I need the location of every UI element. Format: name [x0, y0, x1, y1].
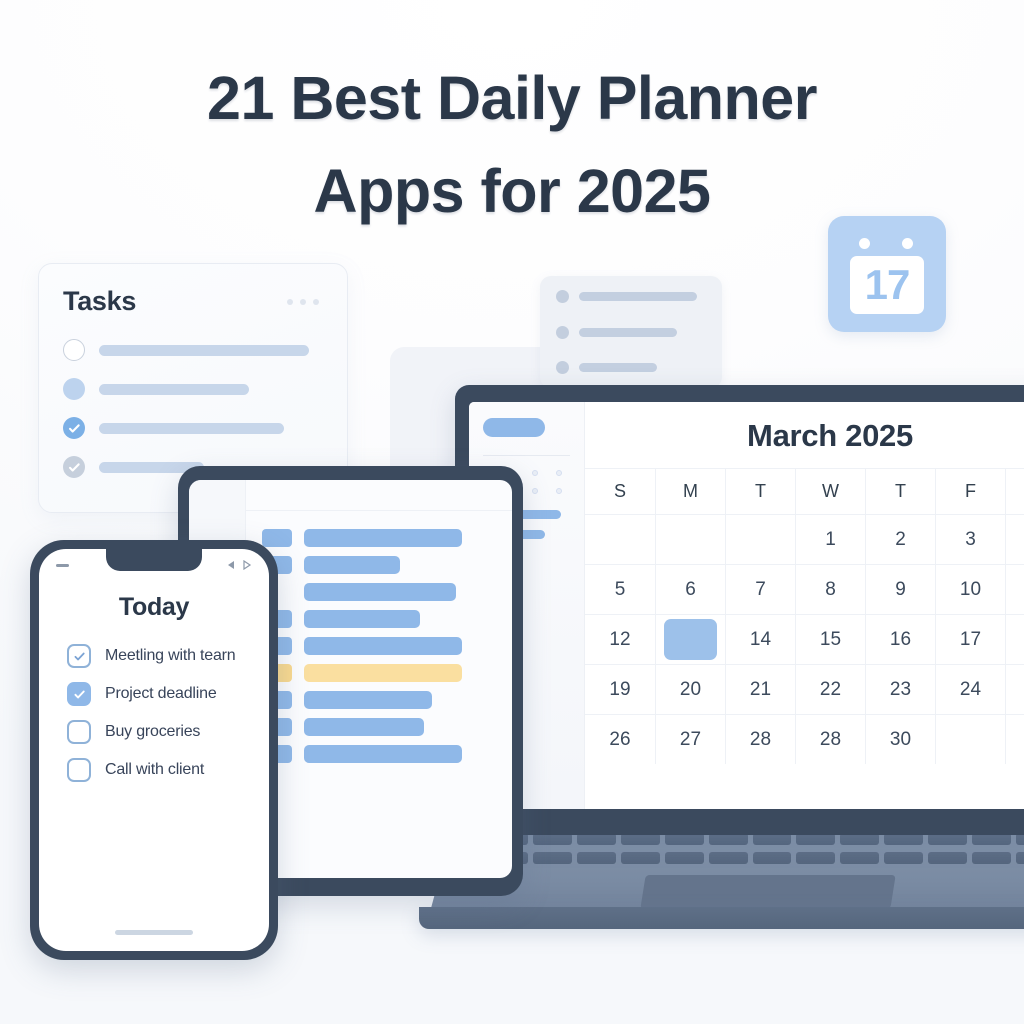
calendar-day-cell[interactable]	[1005, 715, 1024, 764]
phone-task-label: Call with client	[105, 761, 204, 779]
key	[928, 852, 967, 864]
page-title: 21 Best Daily Planner Apps for 2025	[0, 52, 1024, 237]
bullet-placeholder-bar	[579, 363, 657, 372]
calendar-day-cell[interactable]: 18	[1005, 615, 1024, 664]
phone-task-list: Meetling with tearn Project deadline Buy…	[39, 644, 269, 782]
task-row[interactable]	[63, 339, 323, 361]
calendar-day-cell[interactable]: 3	[935, 515, 1005, 564]
calendar-day-cell[interactable]: 7	[725, 565, 795, 614]
grid-dot	[532, 488, 538, 494]
laptop-trackpad[interactable]	[640, 875, 895, 909]
calendar-day-cell[interactable]	[725, 515, 795, 564]
dot	[287, 299, 293, 305]
calendar-day-cell[interactable]: 16	[865, 615, 935, 664]
key	[665, 852, 704, 864]
key	[533, 852, 572, 864]
key	[884, 852, 923, 864]
calendar-day-cell[interactable]: 17	[935, 615, 1005, 664]
calendar-day-cell-selected[interactable]	[655, 615, 725, 664]
weekday-header: F	[935, 469, 1005, 514]
calendar-day-cell[interactable]: 4	[1005, 515, 1024, 564]
calendar-day-cell[interactable]: 11	[1005, 565, 1024, 614]
weekday-header: W	[795, 469, 865, 514]
calendar-day-cell[interactable]: 9	[865, 565, 935, 614]
illustration-canvas: 21 Best Daily Planner Apps for 2025 17 T…	[0, 0, 1024, 1024]
phone-screen-title: Today	[39, 593, 269, 622]
calendar-day-cell[interactable]	[655, 515, 725, 564]
laptop-front-edge	[419, 907, 1024, 929]
calendar-day-cell[interactable]	[935, 715, 1005, 764]
calendar-panel: March 2025 S M T W T F S	[585, 402, 1024, 809]
tablet-list-row[interactable]	[262, 637, 492, 655]
bullet-row	[556, 326, 706, 339]
signal-dash-icon	[56, 564, 69, 567]
calendar-day-cell[interactable]: 21	[725, 665, 795, 714]
task-placeholder-bar	[99, 384, 249, 395]
calendar-day-cell[interactable]: 2	[865, 515, 935, 564]
laptop-screen: March 2025 S M T W T F S	[469, 402, 1024, 809]
tablet-list-row[interactable]	[262, 529, 492, 547]
laptop-keyboard[interactable]	[489, 833, 1024, 871]
phone-task-label: Project deadline	[105, 685, 217, 703]
row-placeholder-bar	[304, 556, 400, 574]
tablet-list-row[interactable]	[262, 610, 492, 628]
calendar-day-cell[interactable]: 15	[795, 615, 865, 664]
calendar-day-cell[interactable]: 28	[725, 715, 795, 764]
bullet-placeholder-bar	[579, 328, 677, 337]
phone-task-row[interactable]: Buy groceries	[67, 720, 269, 744]
phone-task-label: Buy groceries	[105, 723, 200, 741]
task-placeholder-bar	[99, 423, 284, 434]
dot	[300, 299, 306, 305]
row-placeholder-bar	[304, 691, 432, 709]
calendar-day-cell[interactable]: 22	[795, 665, 865, 714]
row-placeholder-bar	[304, 745, 462, 763]
calendar-day-cell[interactable]: 1	[795, 515, 865, 564]
key	[753, 852, 792, 864]
background-bullet-card	[540, 276, 722, 388]
laptop-lid: March 2025 S M T W T F S	[455, 385, 1024, 835]
checkbox-empty-icon[interactable]	[67, 758, 91, 782]
calendar-week-row: 12 14 15 16 17 18	[585, 614, 1024, 664]
row-placeholder-bar	[304, 583, 456, 601]
phone-home-indicator[interactable]	[115, 930, 193, 935]
checkbox-filled-checked-icon[interactable]	[67, 682, 91, 706]
tablet-list-row-highlighted[interactable]	[262, 664, 492, 682]
phone-screen: Today Meetling with tearn Project deadli…	[39, 549, 269, 951]
phone-task-row[interactable]: Project deadline	[67, 682, 269, 706]
more-options-dots-icon[interactable]	[287, 299, 323, 305]
tablet-list-row[interactable]	[262, 691, 492, 709]
calendar-day-cell[interactable]	[585, 515, 655, 564]
phone-task-row[interactable]: Call with client	[67, 758, 269, 782]
weekday-header: M	[655, 469, 725, 514]
calendar-grid: S M T W T F S 1	[585, 468, 1024, 809]
row-placeholder-bar	[304, 718, 424, 736]
calendar-month-title: March 2025	[585, 402, 1024, 468]
checkbox-empty-icon[interactable]	[63, 339, 85, 361]
calendar-day-cell[interactable]: 19	[585, 665, 655, 714]
row-placeholder-bar	[304, 529, 462, 547]
calendar-day-cell[interactable]: 10	[935, 565, 1005, 614]
selected-day-highlight	[664, 619, 717, 660]
key	[840, 852, 879, 864]
phone-status-bar	[39, 558, 269, 572]
key	[796, 852, 835, 864]
calendar-day-cell[interactable]: 30	[865, 715, 935, 764]
task-placeholder-bar	[99, 345, 309, 356]
sidebar-nav-pill[interactable]	[483, 418, 545, 437]
phone-task-label: Meetling with tearn	[105, 647, 236, 665]
calendar-day-cell[interactable]: 24	[935, 665, 1005, 714]
calendar-ring-dot-left	[859, 238, 870, 249]
tablet-list-row[interactable]	[262, 718, 492, 736]
calendar-weekday-header-row: S M T W T F S	[585, 468, 1024, 514]
checkbox-checked-muted-icon[interactable]	[63, 456, 85, 478]
row-chip	[262, 529, 292, 547]
row-placeholder-bar	[304, 610, 420, 628]
calendar-ring-dot-right	[902, 238, 913, 249]
phone-device: Today Meetling with tearn Project deadli…	[30, 540, 278, 960]
calendar-week-row: 19 20 21 22 23 24 25	[585, 664, 1024, 714]
weekday-header: T	[865, 469, 935, 514]
calendar-badge-day: 17	[865, 264, 910, 306]
tasks-card-header: Tasks	[63, 286, 323, 317]
row-placeholder-bar	[304, 637, 462, 655]
tablet-row-list	[246, 511, 512, 763]
tasks-card-title: Tasks	[63, 286, 136, 317]
calendar-day-cell[interactable]: 5	[585, 565, 655, 614]
weekday-header: S	[1005, 469, 1024, 514]
tablet-list-row[interactable]	[262, 556, 492, 574]
calendar-day-cell[interactable]: 28	[795, 715, 865, 764]
calendar-week-row: 5 6 7 8 9 10 11	[585, 564, 1024, 614]
checkbox-empty-icon[interactable]	[67, 720, 91, 744]
calendar-day-cell[interactable]: 6	[655, 565, 725, 614]
tablet-list-row[interactable]	[262, 745, 492, 763]
bullet-dot-icon	[556, 290, 569, 303]
key	[1016, 852, 1024, 864]
calendar-day-cell[interactable]: 14	[725, 615, 795, 664]
sidebar-divider	[483, 455, 570, 456]
bullet-dot-icon	[556, 326, 569, 339]
status-right-icons	[226, 560, 252, 570]
calendar-badge-icon: 17	[828, 216, 946, 332]
key	[709, 852, 748, 864]
bullet-row	[556, 290, 706, 303]
dot	[313, 299, 319, 305]
task-row[interactable]	[63, 417, 323, 439]
checkbox-outline-checked-icon[interactable]	[67, 644, 91, 668]
phone-task-row[interactable]: Meetling with tearn	[67, 644, 269, 668]
keyboard-row	[489, 852, 1024, 864]
key	[621, 852, 660, 864]
calendar-day-cell[interactable]: 25	[1005, 665, 1024, 714]
tablet-list-row[interactable]	[262, 583, 492, 601]
grid-dot	[556, 470, 562, 476]
triangle-right-icon	[242, 560, 252, 570]
calendar-day-cell[interactable]: 12	[585, 615, 655, 664]
weekday-header: S	[585, 469, 655, 514]
tablet-topbar	[246, 480, 512, 511]
calendar-week-row: 1 2 3 4	[585, 514, 1024, 564]
weekday-header: T	[725, 469, 795, 514]
triangle-left-icon	[226, 560, 236, 570]
bullet-placeholder-bar	[579, 292, 697, 301]
checkbox-soft-icon[interactable]	[63, 378, 85, 400]
calendar-day-cell[interactable]: 27	[655, 715, 725, 764]
calendar-badge-panel: 17	[850, 256, 924, 314]
bullet-dot-icon	[556, 361, 569, 374]
row-placeholder-bar-highlighted	[304, 664, 462, 682]
tasks-card-list	[63, 339, 323, 478]
grid-dot	[532, 470, 538, 476]
tablet-main-panel	[246, 480, 512, 878]
calendar-day-cell[interactable]: 8	[795, 565, 865, 614]
calendar-day-cell[interactable]: 20	[655, 665, 725, 714]
calendar-week-row: 26 27 28 28 30	[585, 714, 1024, 764]
bullet-row	[556, 361, 706, 374]
laptop-device: March 2025 S M T W T F S	[455, 385, 1024, 945]
calendar-day-cell[interactable]: 26	[585, 715, 655, 764]
checkbox-checked-icon[interactable]	[63, 417, 85, 439]
key	[577, 852, 616, 864]
key	[972, 852, 1011, 864]
calendar-day-cell[interactable]: 23	[865, 665, 935, 714]
task-row[interactable]	[63, 378, 323, 400]
page-title-line-1: 21 Best Daily Planner	[0, 52, 1024, 145]
grid-dot	[556, 488, 562, 494]
